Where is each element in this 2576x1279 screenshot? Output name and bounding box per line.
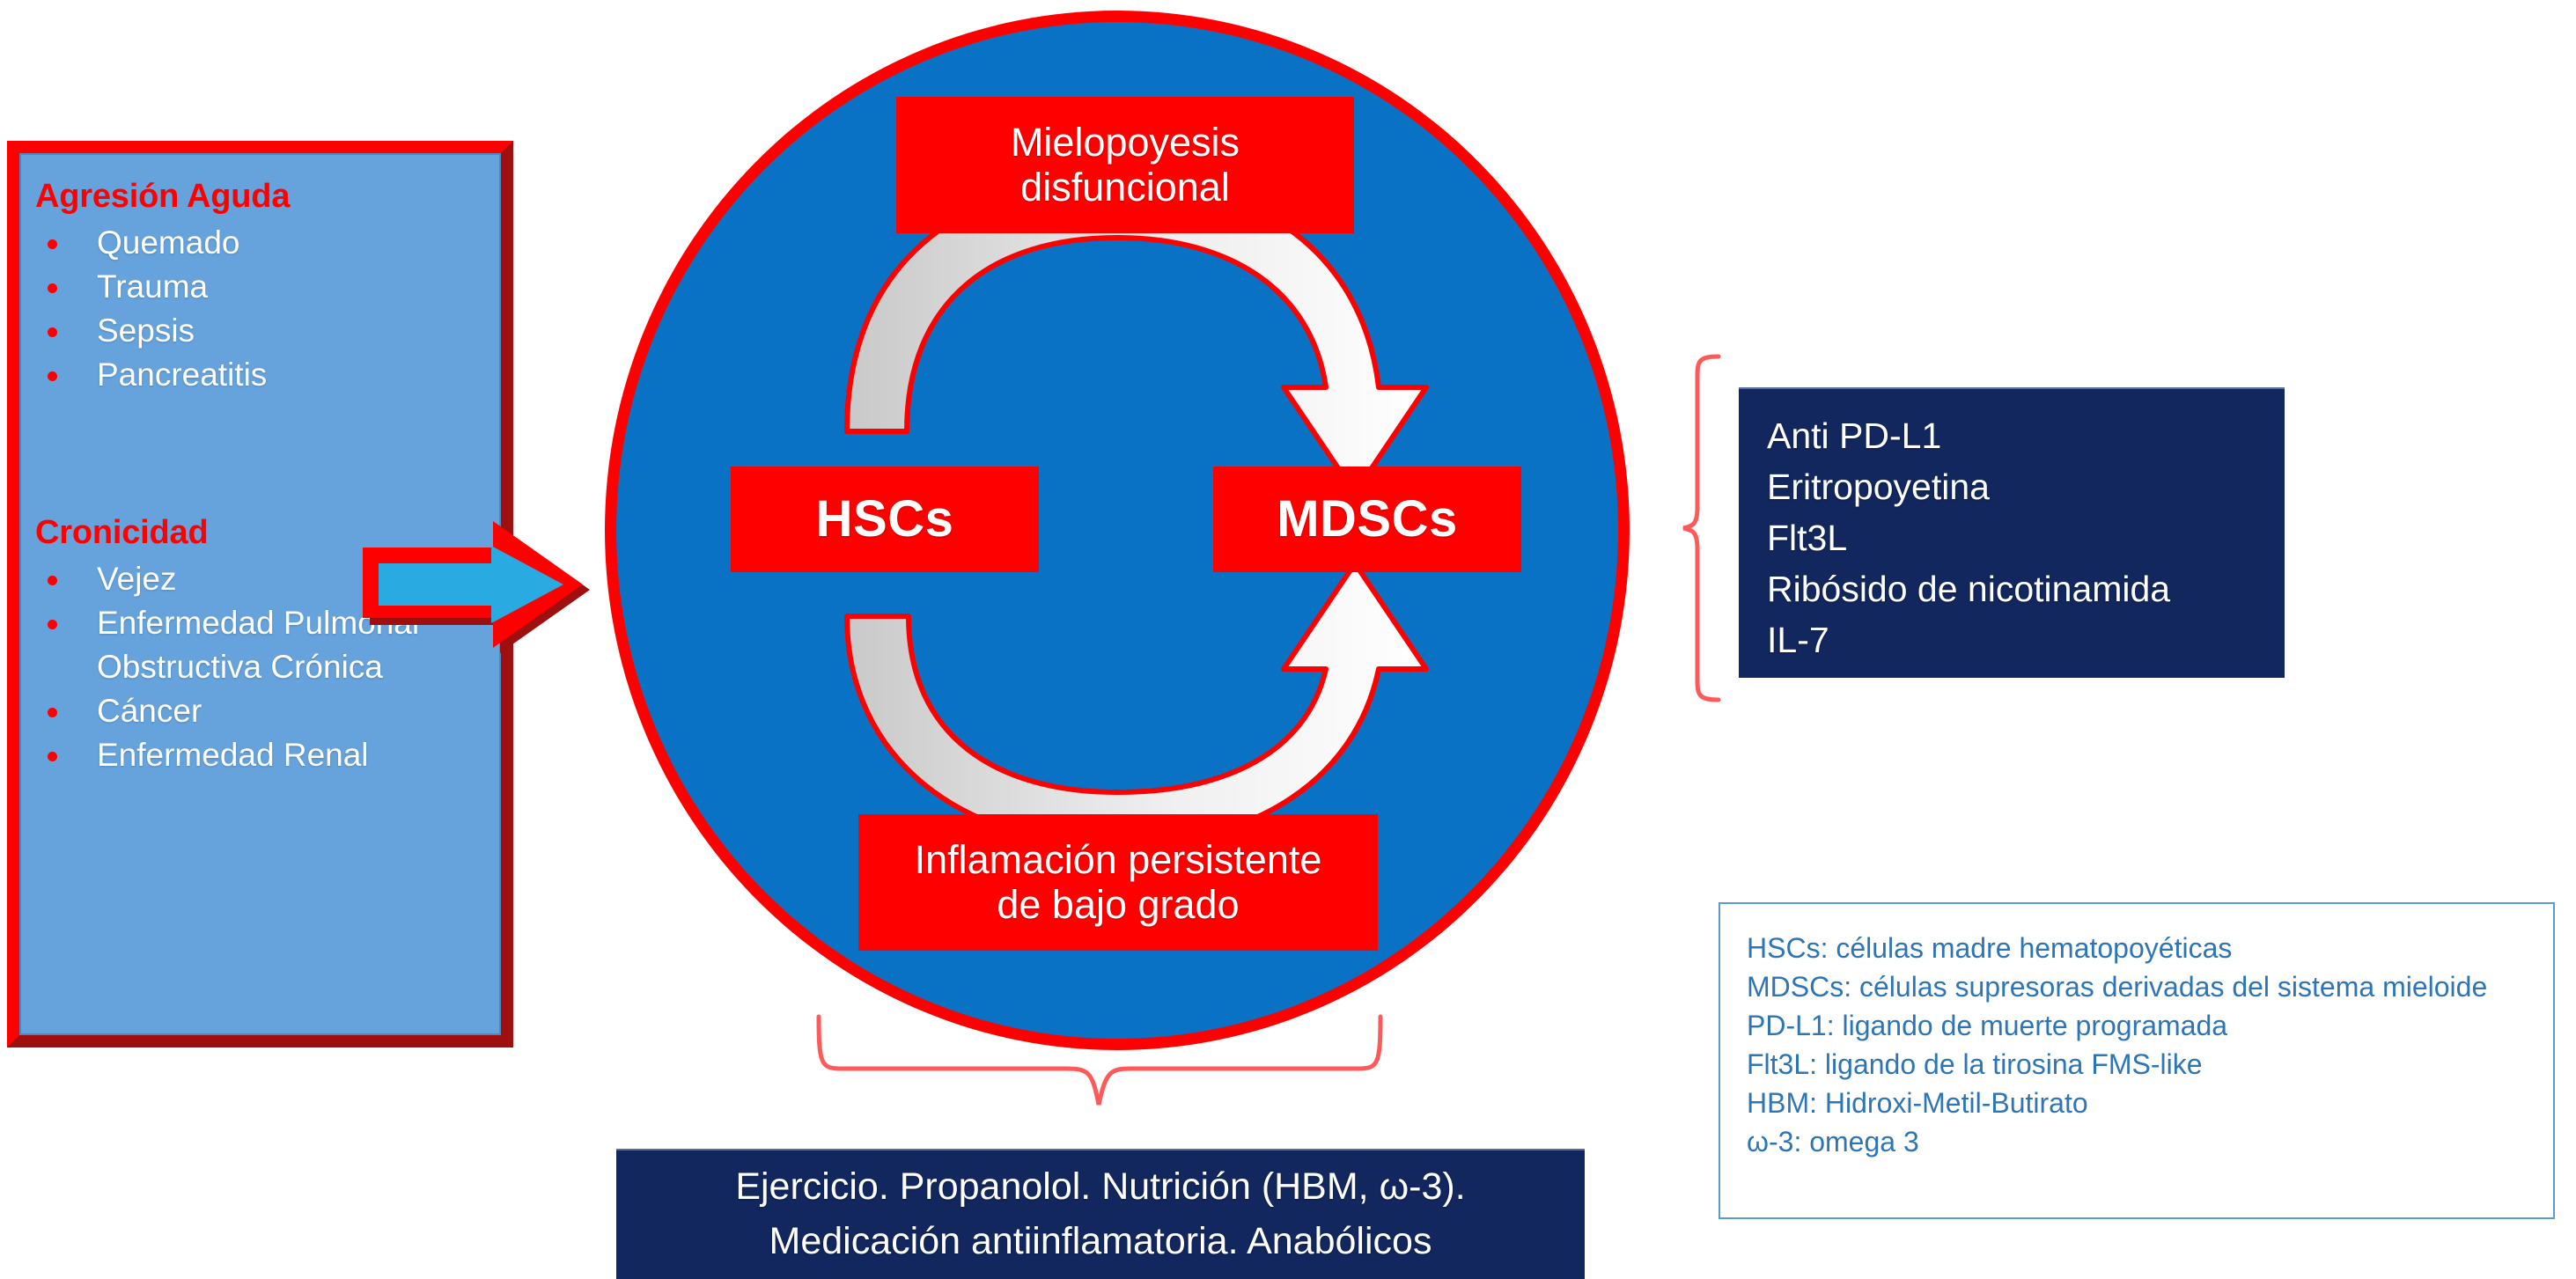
myelopoiesis-line2: disfuncional	[1011, 165, 1240, 210]
abbreviation-legend: HSCs: células madre hematopoyéticas MDSC…	[1719, 902, 2555, 1219]
myelopoiesis-line1: Mielopoyesis	[1011, 121, 1240, 165]
inflammation-line1: Inflamación persistente	[915, 838, 1322, 883]
inflammation-box: Inflamación persistente de bajo grado	[858, 814, 1378, 951]
therapy-line2: Medicación antiinflamatoria. Anabólicos	[769, 1214, 1432, 1268]
drug-line: Flt3L	[1767, 512, 2285, 563]
legend-line: Flt3L: ligando de la tirosina FMS-like	[1747, 1045, 2553, 1084]
therapy-box: Ejercicio. Propanolol. Nutrición (HBM, ω…	[616, 1149, 1585, 1279]
legend-line: HSCs: células madre hematopoyéticas	[1747, 929, 2553, 967]
list-item: Sepsis	[35, 309, 511, 353]
legend-line: MDSCs: células supresoras derivadas del …	[1747, 967, 2553, 1006]
drug-line: Eritropoyetina	[1767, 461, 2285, 512]
mdscs-label: MDSCs	[1277, 490, 1458, 548]
inflammation-line2: de bajo grado	[915, 883, 1322, 928]
hscs-node: HSCs	[731, 467, 1039, 572]
acute-risk-group: Agresión Aguda Quemado Trauma Sepsis Pan…	[35, 178, 511, 397]
legend-line: HBM: Hidroxi-Metil-Butirato	[1747, 1084, 2553, 1122]
mdscs-node: MDSCs	[1213, 467, 1521, 572]
drug-line: Anti PD-L1	[1767, 410, 2285, 461]
list-item: Enfermedad Renal	[35, 733, 511, 777]
drug-line: IL-7	[1767, 614, 2285, 665]
figure-canvas: Agresión Aguda Quemado Trauma Sepsis Pan…	[0, 0, 2576, 1279]
drug-line: Ribósido de nicotinamida	[1767, 563, 2285, 614]
right-arrow-icon	[359, 519, 597, 660]
curly-brace-icon	[1683, 357, 1719, 700]
list-item: Pancreatitis	[35, 353, 511, 397]
acute-risk-list: Quemado Trauma Sepsis Pancreatitis	[35, 221, 511, 397]
list-item: Quemado	[35, 221, 511, 265]
list-item: Trauma	[35, 265, 511, 309]
list-item: Cáncer	[35, 689, 511, 733]
hscs-label: HSCs	[816, 490, 954, 548]
pharmacologic-targets-box: Anti PD-L1 Eritropoyetina Flt3L Ribósido…	[1739, 387, 2285, 678]
acute-risk-heading: Agresión Aguda	[35, 178, 511, 216]
legend-line: PD-L1: ligando de muerte programada	[1747, 1006, 2553, 1045]
myelopoiesis-box: Mielopoyesis disfuncional	[896, 97, 1354, 233]
legend-line: ω-3: omega 3	[1747, 1122, 2553, 1161]
therapy-line1: Ejercicio. Propanolol. Nutrición (HBM, ω…	[735, 1159, 1465, 1214]
